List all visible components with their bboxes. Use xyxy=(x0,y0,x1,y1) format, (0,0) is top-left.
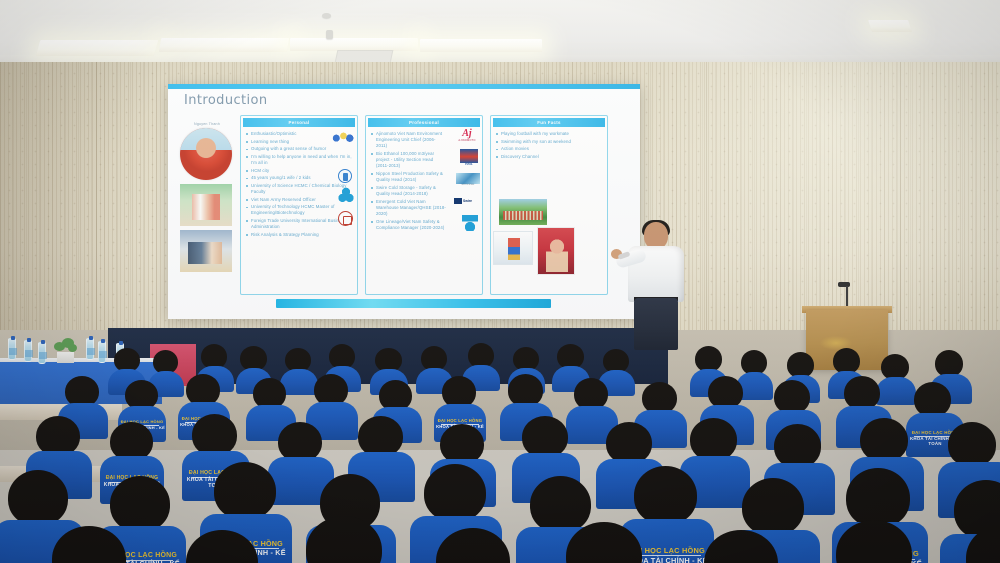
list-item: Swimming with my son at weekend xyxy=(495,139,604,145)
shirt-line-1: ĐẠI HỌC LẠC HỒNG xyxy=(434,419,486,423)
wall-shadow xyxy=(0,62,160,362)
head xyxy=(948,422,996,467)
list-item: Outgoing with a great sense of humor xyxy=(245,146,354,152)
head xyxy=(214,462,276,520)
ceiling-light-2 xyxy=(159,38,289,52)
column-body-personal: Enthusiastic/Optimistic Learning new thi… xyxy=(241,127,357,241)
column-header-professional: Professional xyxy=(368,118,480,127)
head xyxy=(358,416,403,457)
head xyxy=(606,422,652,464)
head xyxy=(522,416,568,458)
slide-bottom-accent-bar xyxy=(276,299,551,308)
slide-column-personal: Personal Enthusiastic/Optimistic Learnin… xyxy=(240,115,358,295)
head xyxy=(690,418,737,461)
list-item: Risk Analysis & Strategy Planning xyxy=(245,232,354,238)
list-item: Playing football with my workmate xyxy=(495,131,604,137)
minion-illustration-icon xyxy=(331,131,355,144)
head xyxy=(774,380,810,414)
presenter-head xyxy=(644,222,668,249)
list-item: Action movies xyxy=(495,146,604,152)
head xyxy=(530,476,591,533)
portrait-caption: Nguyen Thanh xyxy=(180,122,234,126)
list-item: Emergent Cold Viet Nam Warehouse Manager… xyxy=(370,199,446,218)
professional-bullet-list: Ajinomoto Viet Nam Environment Engineeri… xyxy=(370,131,446,231)
head xyxy=(742,478,804,536)
smoke-detector-icon xyxy=(322,13,331,18)
sprinkler-icon xyxy=(326,30,333,39)
slide-photo-rail: Nguyen Thanh xyxy=(180,122,234,272)
football-team-photo xyxy=(499,199,547,225)
podium-microphone-icon xyxy=(838,282,850,287)
child-photo xyxy=(180,230,232,272)
ajinomoto-logo-icon: AjAJINOMOTO xyxy=(454,129,480,145)
pvoil-logo-icon: PVOIL xyxy=(460,149,478,169)
shirt xyxy=(876,377,916,405)
head xyxy=(844,376,880,410)
list-item: Ajinomoto Viet Nam Environment Engineeri… xyxy=(370,131,446,150)
list-item: Discovery Channel xyxy=(495,154,604,160)
action-movie-poster-photo xyxy=(537,227,575,275)
slide-title: Introduction xyxy=(184,93,268,108)
list-item: I'm willing to help anyone in need and w… xyxy=(245,154,354,166)
shirt-divider xyxy=(633,555,701,556)
microscope-icon xyxy=(338,169,352,183)
nippon-steel-logo-icon: NIPPON STEEL xyxy=(456,173,480,191)
ceiling-light-4 xyxy=(420,39,542,52)
one-lineage-logo-icon xyxy=(462,215,478,231)
head xyxy=(440,424,484,464)
column-body-professional: Ajinomoto Viet Nam Environment Engineeri… xyxy=(366,127,482,234)
ceiling-light-5 xyxy=(868,20,912,32)
head xyxy=(860,418,908,462)
personal-bullet-list: Enthusiastic/Optimistic Learning new thi… xyxy=(245,131,354,238)
ceiling-light-1 xyxy=(36,40,159,56)
rocket-poster-photo xyxy=(493,231,533,265)
head xyxy=(8,470,68,526)
slide-column-professional: Professional Ajinomoto Viet Nam Environm… xyxy=(365,115,483,295)
column-body-fun-facts: Playing football with my workmate Swimmi… xyxy=(491,127,607,163)
head xyxy=(774,424,821,468)
head xyxy=(914,382,951,417)
list-item: Bio Ethanol 100,000 m3/year project - Ut… xyxy=(370,151,446,170)
list-item: One Lineage/Viet Nam Safety & Compliance… xyxy=(370,219,446,231)
slide-column-fun-facts: Fun Facts Playing football with my workm… xyxy=(490,115,608,295)
head xyxy=(278,422,322,462)
column-header-fun-facts: Fun Facts xyxy=(493,118,605,127)
fun-facts-bullet-list: Playing football with my workmate Swimmi… xyxy=(495,131,604,160)
swire-logo-icon: Swire xyxy=(454,197,480,205)
head xyxy=(192,414,237,456)
projection-screen: Introduction Nguyen Thanh Personal Enthu… xyxy=(168,84,640,319)
head xyxy=(634,466,697,525)
list-item: Swire Cold Storage - Safety & Quality He… xyxy=(370,185,446,197)
audience: ĐẠI HỌC LẠC HỒNG KHOA TÀI CHÍNH - KẾ TOÁ… xyxy=(0,330,1000,563)
presentation-slide: Introduction Nguyen Thanh Personal Enthu… xyxy=(168,84,640,319)
portrait-circle-photo xyxy=(180,128,232,180)
hcmus-logo-icon xyxy=(338,187,354,203)
head xyxy=(846,468,910,528)
list-item: Nippon Steel Production Safety & Quality… xyxy=(370,171,446,183)
ftu-seal-icon xyxy=(338,211,353,226)
head xyxy=(935,350,963,377)
head xyxy=(36,416,80,456)
slide-top-accent-bar xyxy=(168,84,640,89)
head xyxy=(424,464,486,522)
family-photo xyxy=(180,184,232,226)
column-header-personal: Personal xyxy=(243,118,355,127)
head xyxy=(110,476,170,532)
lecture-hall-scene: Introduction Nguyen Thanh Personal Enthu… xyxy=(0,0,1000,563)
